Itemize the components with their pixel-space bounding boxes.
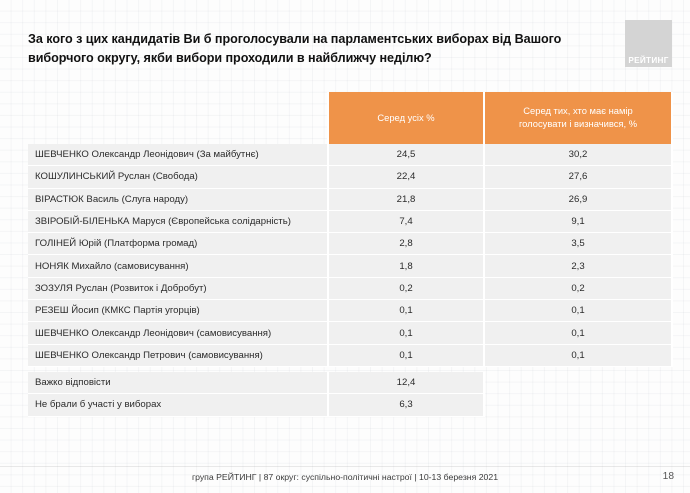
candidate-name-cell: РЕЗЕШ Йосип (КМКС Партія угорців) [28, 300, 328, 322]
candidate-name-cell: НОНЯК Михайло (самовисування) [28, 255, 328, 277]
table-row[interactable]: ЗВІРОБІЙ-БІЛЕНЬКА Маруся (Європейська со… [28, 210, 672, 232]
page-number: 18 [663, 471, 674, 482]
table-body: ШЕВЧЕНКО Олександр Леонідович (За майбут… [28, 144, 672, 416]
among-decided-value-cell: 30,2 [484, 144, 672, 166]
table-row[interactable]: ГОЛІНЕЙ Юрій (Платформа громад)2,83,5 [28, 233, 672, 255]
among-decided-value-cell: 27,6 [484, 166, 672, 188]
page-title-text: За кого з цих кандидатів Ви б проголосув… [28, 30, 616, 68]
slide-canvas: За кого з цих кандидатів Ви б проголосув… [0, 0, 690, 493]
candidate-name-cell: Важко відповісти [28, 372, 328, 394]
among-decided-value-cell [484, 372, 672, 394]
table-row[interactable]: ЗОЗУЛЯ Руслан (Розвиток і Добробут)0,20,… [28, 277, 672, 299]
table-header-row: Серед усіх % Серед тих, хто має намір го… [28, 92, 672, 144]
table-row[interactable]: Не брали б участі у виборах6,3 [28, 394, 672, 416]
candidate-name-cell: ШЕВЧЕНКО Олександр Леонідович (За майбут… [28, 144, 328, 166]
among-decided-value-cell [484, 394, 672, 416]
footer-caption: група РЕЙТИНГ | 87 округ: суспільно-полі… [0, 472, 690, 482]
among-decided-value-cell: 0,1 [484, 300, 672, 322]
among-all-value-cell: 12,4 [328, 372, 484, 394]
footer-divider [0, 466, 690, 467]
poll-results-table: Серед усіх % Серед тих, хто має намір го… [28, 92, 672, 417]
page-title: За кого з цих кандидатів Ви б проголосув… [28, 30, 616, 68]
among-all-value-cell: 22,4 [328, 166, 484, 188]
among-all-value-cell: 0,1 [328, 344, 484, 366]
candidate-name-cell: ШЕВЧЕНКО Олександр Леонідович (самовисув… [28, 322, 328, 344]
among-all-value-cell: 0,2 [328, 277, 484, 299]
among-decided-value-cell: 9,1 [484, 210, 672, 232]
candidate-name-cell: КОШУЛИНСЬКИЙ Руслан (Свобода) [28, 166, 328, 188]
table-head: Серед усіх % Серед тих, хто має намір го… [28, 92, 672, 144]
table-row[interactable]: РЕЗЕШ Йосип (КМКС Партія угорців)0,10,1 [28, 300, 672, 322]
candidate-name-cell: ЗОЗУЛЯ Руслан (Розвиток і Добробут) [28, 277, 328, 299]
among-decided-value-cell: 0,1 [484, 344, 672, 366]
among-decided-value-cell: 3,5 [484, 233, 672, 255]
table-row[interactable]: НОНЯК Михайло (самовисування)1,82,3 [28, 255, 672, 277]
rating-group-logo: РЕЙТИНГ [625, 20, 672, 67]
candidate-name-cell: Не брали б участі у виборах [28, 394, 328, 416]
among-decided-value-cell: 0,2 [484, 277, 672, 299]
candidate-name-cell: ШЕВЧЕНКО Олександр Петрович (самовисуван… [28, 344, 328, 366]
among-all-value-cell: 0,1 [328, 322, 484, 344]
among-all-value-cell: 21,8 [328, 188, 484, 210]
among-decided-value-cell: 2,3 [484, 255, 672, 277]
rating-group-logo-label: РЕЙТИНГ [625, 56, 672, 65]
among-decided-value-cell: 26,9 [484, 188, 672, 210]
results-table: Серед усіх % Серед тих, хто має намір го… [28, 92, 673, 417]
table-row[interactable]: ВІРАСТЮК Василь (Слуга народу)21,826,9 [28, 188, 672, 210]
table-row[interactable]: ШЕВЧЕНКО Олександр Леонідович (За майбут… [28, 144, 672, 166]
among-all-value-cell: 6,3 [328, 394, 484, 416]
candidate-name-cell: ВІРАСТЮК Василь (Слуга народу) [28, 188, 328, 210]
table-row[interactable]: ШЕВЧЕНКО Олександр Леонідович (самовисув… [28, 322, 672, 344]
among-all-value-cell: 0,1 [328, 300, 484, 322]
among-all-value-cell: 7,4 [328, 210, 484, 232]
among-all-value-cell: 1,8 [328, 255, 484, 277]
candidate-name-cell: ЗВІРОБІЙ-БІЛЕНЬКА Маруся (Європейська со… [28, 210, 328, 232]
candidate-name-cell: ГОЛІНЕЙ Юрій (Платформа громад) [28, 233, 328, 255]
among-all-value-cell: 24,5 [328, 144, 484, 166]
column-header-among-decided: Серед тих, хто має намір голосувати і ви… [484, 92, 672, 144]
table-row[interactable]: Важко відповісти12,4 [28, 372, 672, 394]
column-header-among-all: Серед усіх % [328, 92, 484, 144]
column-header-name [28, 92, 328, 144]
among-all-value-cell: 2,8 [328, 233, 484, 255]
among-decided-value-cell: 0,1 [484, 322, 672, 344]
table-row[interactable]: КОШУЛИНСЬКИЙ Руслан (Свобода)22,427,6 [28, 166, 672, 188]
table-row[interactable]: ШЕВЧЕНКО Олександр Петрович (самовисуван… [28, 344, 672, 366]
